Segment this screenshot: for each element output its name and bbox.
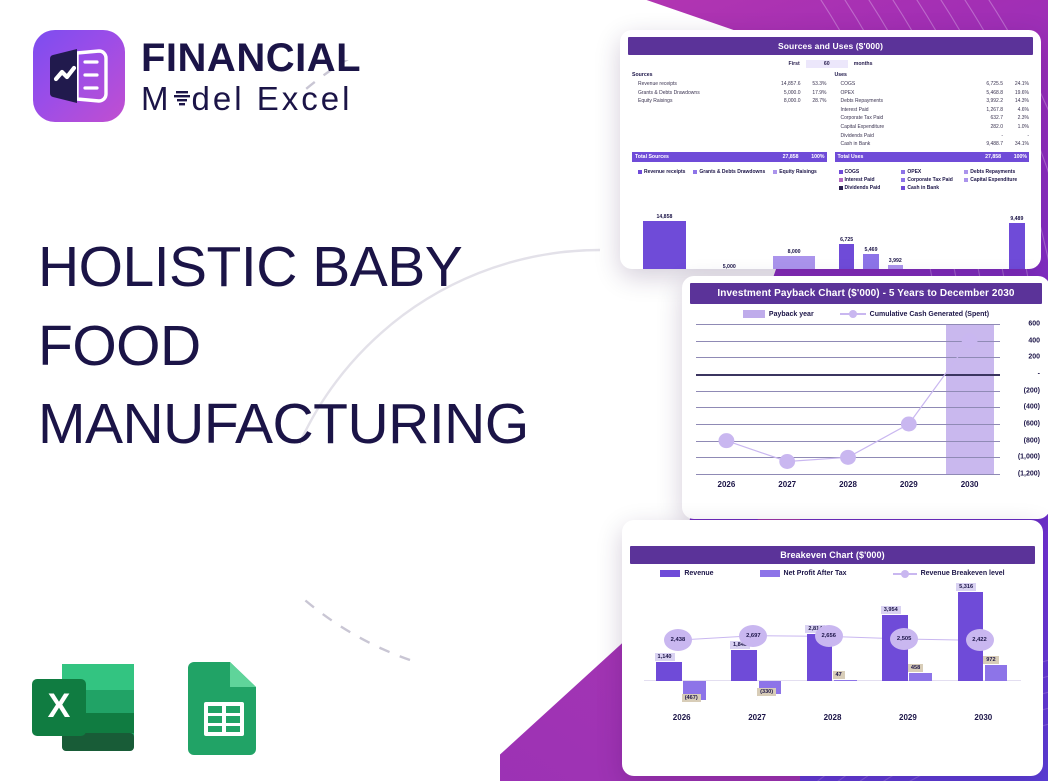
npat-bar: [985, 665, 1008, 681]
npat-bar-label: 458: [908, 664, 923, 672]
total-uses-label: Total Uses: [835, 154, 968, 160]
logo-del-excel: del Excel: [192, 82, 353, 115]
revenue-bar: [731, 650, 757, 681]
microsoft-excel-icon: X: [30, 660, 138, 755]
legend-swatch: [964, 170, 968, 174]
y-axis-tick-label: (1,000): [1018, 454, 1040, 461]
row-pct: 19.6%: [1003, 89, 1029, 98]
y-axis-tick-label: -: [1038, 371, 1040, 378]
stacked-bars-glyph: [172, 86, 192, 110]
npat-bar-label: (330): [757, 688, 776, 696]
x-axis-tick-label: 2029: [878, 480, 939, 489]
x-axis-tick-label: 2027: [719, 713, 794, 722]
card2-title: Investment Payback Chart ($'000) - 5 Yea…: [690, 283, 1042, 304]
total-sources-value: 27,858: [765, 154, 799, 160]
x-axis-tick-label: 2029: [870, 713, 945, 722]
bar-value-label: 3,992: [889, 258, 902, 264]
legend-item: COGS: [839, 169, 902, 175]
row-label: COGS: [835, 80, 970, 89]
bar-item: 0: [985, 193, 1001, 269]
legend-swatch: [901, 178, 905, 182]
row-pct: 4.6%: [1003, 106, 1029, 115]
row-label: OPEX: [835, 89, 970, 98]
table-row: OPEX5,468.819.6%: [835, 89, 1030, 98]
row-value: 282.0: [969, 123, 1003, 132]
breakeven-bubble: 2,505: [890, 628, 918, 650]
row-label: Interest Paid: [835, 106, 970, 115]
uses-column: Uses COGS6,725.524.1%OPEX5,468.819.6%Deb…: [835, 72, 1030, 162]
legend-label: Grants & Debts Drawdowns: [699, 169, 765, 175]
bar-rect: [863, 254, 879, 269]
table-row: Corporate Tax Paid632.72.3%: [835, 114, 1030, 123]
row-label: Revenue receipts: [632, 80, 767, 89]
bar-item: 6,725: [839, 193, 855, 269]
sources-column: Sources Revenue receipts14,857.653.3%Gra…: [632, 72, 827, 162]
row-value: 632.7: [969, 114, 1003, 123]
document-chart-icon: [33, 30, 125, 122]
legend-item: Dividends Paid: [839, 185, 902, 191]
y-axis-tick-label: 400: [1028, 337, 1040, 344]
legend-item: Net Profit After Tax: [760, 570, 847, 577]
x-axis-tick-label: 2026: [696, 480, 757, 489]
total-sources-row: Total Sources 27,858 100%: [632, 152, 827, 162]
bar-value-label: 8,000: [788, 249, 801, 255]
bar-item: 5,000: [708, 193, 751, 269]
row-value: 3,992.2: [969, 97, 1003, 106]
legend-swatch: [901, 186, 905, 190]
sources-bar-chart: 14,8585,0008,000: [632, 193, 827, 269]
revenue-bar-label: 3,954: [881, 606, 901, 614]
legend-item: OPEX: [901, 169, 964, 175]
table-row: Revenue receipts14,857.653.3%: [632, 80, 827, 89]
row-pct: -: [1003, 132, 1029, 141]
x-axis-tick-label: 2030: [939, 480, 1000, 489]
period-input[interactable]: 60: [806, 60, 848, 68]
bar-value-label: 5,000: [723, 264, 736, 269]
legend-swatch: [773, 170, 777, 174]
npat-bar-label: 47: [833, 671, 845, 679]
table-row-spacer: [632, 140, 827, 149]
revenue-bar-label: 1,140: [655, 653, 675, 661]
row-value: 14,857.6: [767, 80, 801, 89]
legend-item: Corporate Tax Paid: [901, 177, 964, 183]
y-axis-tick-label: (400): [1024, 404, 1040, 411]
logo-line-financial: FINANCIAL: [141, 38, 361, 78]
legend-swatch: [840, 313, 866, 315]
brand-wordmark: FINANCIAL M del Excel: [141, 38, 361, 115]
google-sheets-icon: [184, 660, 262, 755]
y-axis-tick-label: (200): [1024, 387, 1040, 394]
legend-swatch: [964, 178, 968, 182]
logo-line-model-excel: M del Excel: [141, 82, 361, 115]
table-row: Debts Repayments3,992.214.3%: [835, 97, 1030, 106]
legend-item: Cumulative Cash Generated (Spent): [840, 310, 989, 318]
svg-text:X: X: [48, 687, 71, 725]
breakeven-x-axis: 20262027202820292030: [644, 713, 1021, 722]
row-value: 1,267.8: [969, 106, 1003, 115]
y-axis-tick-label: (1,200): [1018, 471, 1040, 478]
bar-rect: [643, 221, 686, 269]
npat-bar-label: (467): [682, 694, 701, 702]
legend-label: Revenue Breakeven level: [921, 570, 1005, 577]
total-uses-pct: 100%: [1001, 154, 1029, 160]
table-row: Capital Expenditure282.01.0%: [835, 123, 1030, 132]
revenue-bar-label: 5,316: [956, 583, 976, 591]
row-pct: 1.0%: [1003, 123, 1029, 132]
y-axis-tick-label: (800): [1024, 437, 1040, 444]
bar-item: 9,489: [1009, 193, 1025, 269]
table-row-spacer: [632, 114, 827, 123]
total-uses-value: 27,858: [967, 154, 1001, 160]
sources-uses-table: Sources Revenue receipts14,857.653.3%Gra…: [628, 72, 1033, 162]
legend-item: Revenue Breakeven level: [893, 570, 1005, 577]
row-label: Debts Repayments: [835, 97, 970, 106]
breakeven-bubble: 2,697: [739, 625, 767, 647]
row-value: 9,488.7: [969, 140, 1003, 149]
x-axis-tick-label: 2026: [644, 713, 719, 722]
legend-swatch: [839, 178, 843, 182]
table-row-spacer: [632, 123, 827, 132]
legend-item: Revenue: [660, 570, 713, 577]
card-sources-and-uses[interactable]: Sources and Uses ($'000) First 60 months…: [620, 30, 1041, 269]
uses-header: Uses: [835, 72, 1030, 78]
period-suffix: months: [854, 61, 873, 67]
table-row: Equity Raisings8,000.028.7%: [632, 97, 827, 106]
npat-bar: [834, 680, 857, 681]
period-prefix: First: [789, 61, 800, 67]
row-label: Capital Expenditure: [835, 123, 970, 132]
legend-swatch: [839, 170, 843, 174]
table-row: Cash in Bank9,488.734.1%: [835, 140, 1030, 149]
x-axis-tick-label: 2027: [757, 480, 818, 489]
bar-item: 14,858: [643, 193, 686, 269]
card1-title: Sources and Uses ($'000): [628, 37, 1033, 55]
logo-m: M: [141, 82, 172, 115]
legend-swatch: [893, 573, 917, 575]
bar-rect: [1009, 223, 1025, 269]
total-uses-row: Total Uses 27,858 100%: [835, 152, 1030, 162]
sources-header: Sources: [632, 72, 827, 78]
bar-rect: [888, 265, 904, 269]
y-axis-tick-label: 600: [1028, 321, 1040, 328]
y-axis-tick-label: 200: [1028, 354, 1040, 361]
row-pct: 28.7%: [801, 97, 827, 106]
card3-title: Breakeven Chart ($'000): [630, 546, 1035, 564]
app-icons-row: X: [30, 660, 262, 755]
legend-item: Debts Repayments: [964, 169, 1027, 175]
row-label: Grants & Debts Drawdowns: [632, 89, 767, 98]
gridline: [696, 474, 1000, 475]
legend-swatch: [660, 570, 680, 577]
bar-item: 5,469: [863, 193, 879, 269]
legend-label: Revenue receipts: [644, 169, 685, 175]
row-value: 6,725.5: [969, 80, 1003, 89]
row-pct: 53.3%: [801, 80, 827, 89]
legend-label: Corporate Tax Paid: [907, 177, 952, 183]
bar-item: 633: [936, 193, 952, 269]
bar-item: 8,000: [773, 193, 816, 269]
bar-item: 1,268: [912, 193, 928, 269]
row-label: Cash in Bank: [835, 140, 970, 149]
table-row: Grants & Debts Drawdowns5,000.017.9%: [632, 89, 827, 98]
sources-chart-legend: Revenue receiptsGrants & Debts Drawdowns…: [632, 169, 827, 177]
legend-label: Debts Repayments: [970, 169, 1015, 175]
legend-swatch: [839, 186, 843, 190]
row-pct: 2.3%: [1003, 114, 1029, 123]
bar-rect: [773, 256, 816, 269]
table-row: Dividends Paid--: [835, 132, 1030, 141]
bar-value-label: 5,469: [864, 247, 877, 253]
payback-plot: 600400200-(200)(400)(600)(800)(1,000)(1,…: [696, 324, 1000, 474]
card-investment-payback[interactable]: Investment Payback Chart ($'000) - 5 Yea…: [682, 276, 1048, 519]
legend-item: Payback year: [743, 310, 814, 318]
payback-x-axis: 20262027202820292030: [696, 480, 1000, 489]
row-value: -: [969, 132, 1003, 141]
uses-chart-legend: COGSOPEXDebts RepaymentsInterest PaidCor…: [835, 169, 1030, 193]
table-row-spacer: [632, 132, 827, 141]
x-axis-tick-label: 2028: [795, 713, 870, 722]
legend-swatch: [743, 310, 765, 318]
npat-bar: [909, 673, 932, 681]
legend-label: Interest Paid: [845, 177, 875, 183]
legend-label: Cash in Bank: [907, 185, 939, 191]
table-row-spacer: [632, 106, 827, 115]
breakeven-bubble: 2,422: [966, 629, 994, 651]
legend-swatch: [760, 570, 780, 577]
legend-swatch: [901, 170, 905, 174]
row-pct: 17.9%: [801, 89, 827, 98]
npat-bar-label: 972: [983, 656, 998, 664]
row-label: Dividends Paid: [835, 132, 970, 141]
cumulative-cash-line: [696, 324, 1000, 474]
bar-item: 282: [960, 193, 976, 269]
legend-item: Cash in Bank: [901, 185, 964, 191]
legend-label: Net Profit After Tax: [784, 570, 847, 577]
legend-item: Grants & Debts Drawdowns: [693, 169, 765, 175]
legend-label: Revenue: [684, 570, 713, 577]
legend-label: OPEX: [907, 169, 921, 175]
row-label: Corporate Tax Paid: [835, 114, 970, 123]
legend-item: Revenue receipts: [638, 169, 685, 175]
legend-label: Equity Raisings: [779, 169, 817, 175]
legend-item: Capital Expenditure: [964, 177, 1027, 183]
page-title: HOLISTIC BABY FOOD MANUFACTURING: [38, 228, 508, 464]
table-row: Interest Paid1,267.84.6%: [835, 106, 1030, 115]
row-value: 8,000.0: [767, 97, 801, 106]
uses-bar-chart: 6,7255,4693,9921,26863328209,489: [835, 193, 1030, 269]
legend-marker: [901, 570, 909, 578]
bar-value-label: 6,725: [840, 237, 853, 243]
bar-rect: [839, 244, 855, 269]
bar-value-label: 9,489: [1010, 216, 1023, 222]
row-value: 5,468.8: [969, 89, 1003, 98]
legend-item: Interest Paid: [839, 177, 902, 183]
total-sources-label: Total Sources: [632, 154, 765, 160]
legend-swatch: [693, 170, 697, 174]
bar-value-label: 14,858: [656, 214, 672, 220]
bar-item: 3,992: [888, 193, 904, 269]
x-axis-tick-label: 2028: [818, 480, 879, 489]
legend-label: COGS: [845, 169, 860, 175]
table-row: COGS6,725.524.1%: [835, 80, 1030, 89]
legend-swatch: [638, 170, 642, 174]
revenue-bar: [656, 662, 682, 681]
period-selector-row: First 60 months: [628, 60, 1033, 68]
card-breakeven[interactable]: Breakeven Chart ($'000) RevenueNet Profi…: [622, 520, 1043, 776]
row-pct: 14.3%: [1003, 97, 1029, 106]
legend-label: Dividends Paid: [845, 185, 881, 191]
row-label: Equity Raisings: [632, 97, 767, 106]
y-axis-tick-label: (600): [1024, 421, 1040, 428]
x-axis-tick-label: 2030: [946, 713, 1021, 722]
breakeven-plot: 1,140(467)1,848(330)2,814473,9544585,316…: [644, 581, 1021, 709]
promo-slide: FINANCIAL M del Excel HOLISTIC BABY FOOD…: [0, 0, 1048, 781]
breakeven-bubble: 2,438: [664, 629, 692, 651]
breakeven-legend: RevenueNet Profit After TaxRevenue Break…: [630, 570, 1035, 577]
total-sources-pct: 100%: [799, 154, 827, 160]
row-pct: 34.1%: [1003, 140, 1029, 149]
legend-label: Payback year: [769, 311, 814, 318]
legend-label: Cumulative Cash Generated (Spent): [870, 311, 989, 318]
legend-item: Equity Raisings: [773, 169, 817, 175]
row-pct: 24.1%: [1003, 80, 1029, 89]
payback-legend: Payback yearCumulative Cash Generated (S…: [690, 310, 1042, 318]
legend-marker: [849, 310, 857, 318]
row-value: 5,000.0: [767, 89, 801, 98]
legend-label: Capital Expenditure: [970, 177, 1017, 183]
brand-logo: FINANCIAL M del Excel: [33, 30, 361, 122]
